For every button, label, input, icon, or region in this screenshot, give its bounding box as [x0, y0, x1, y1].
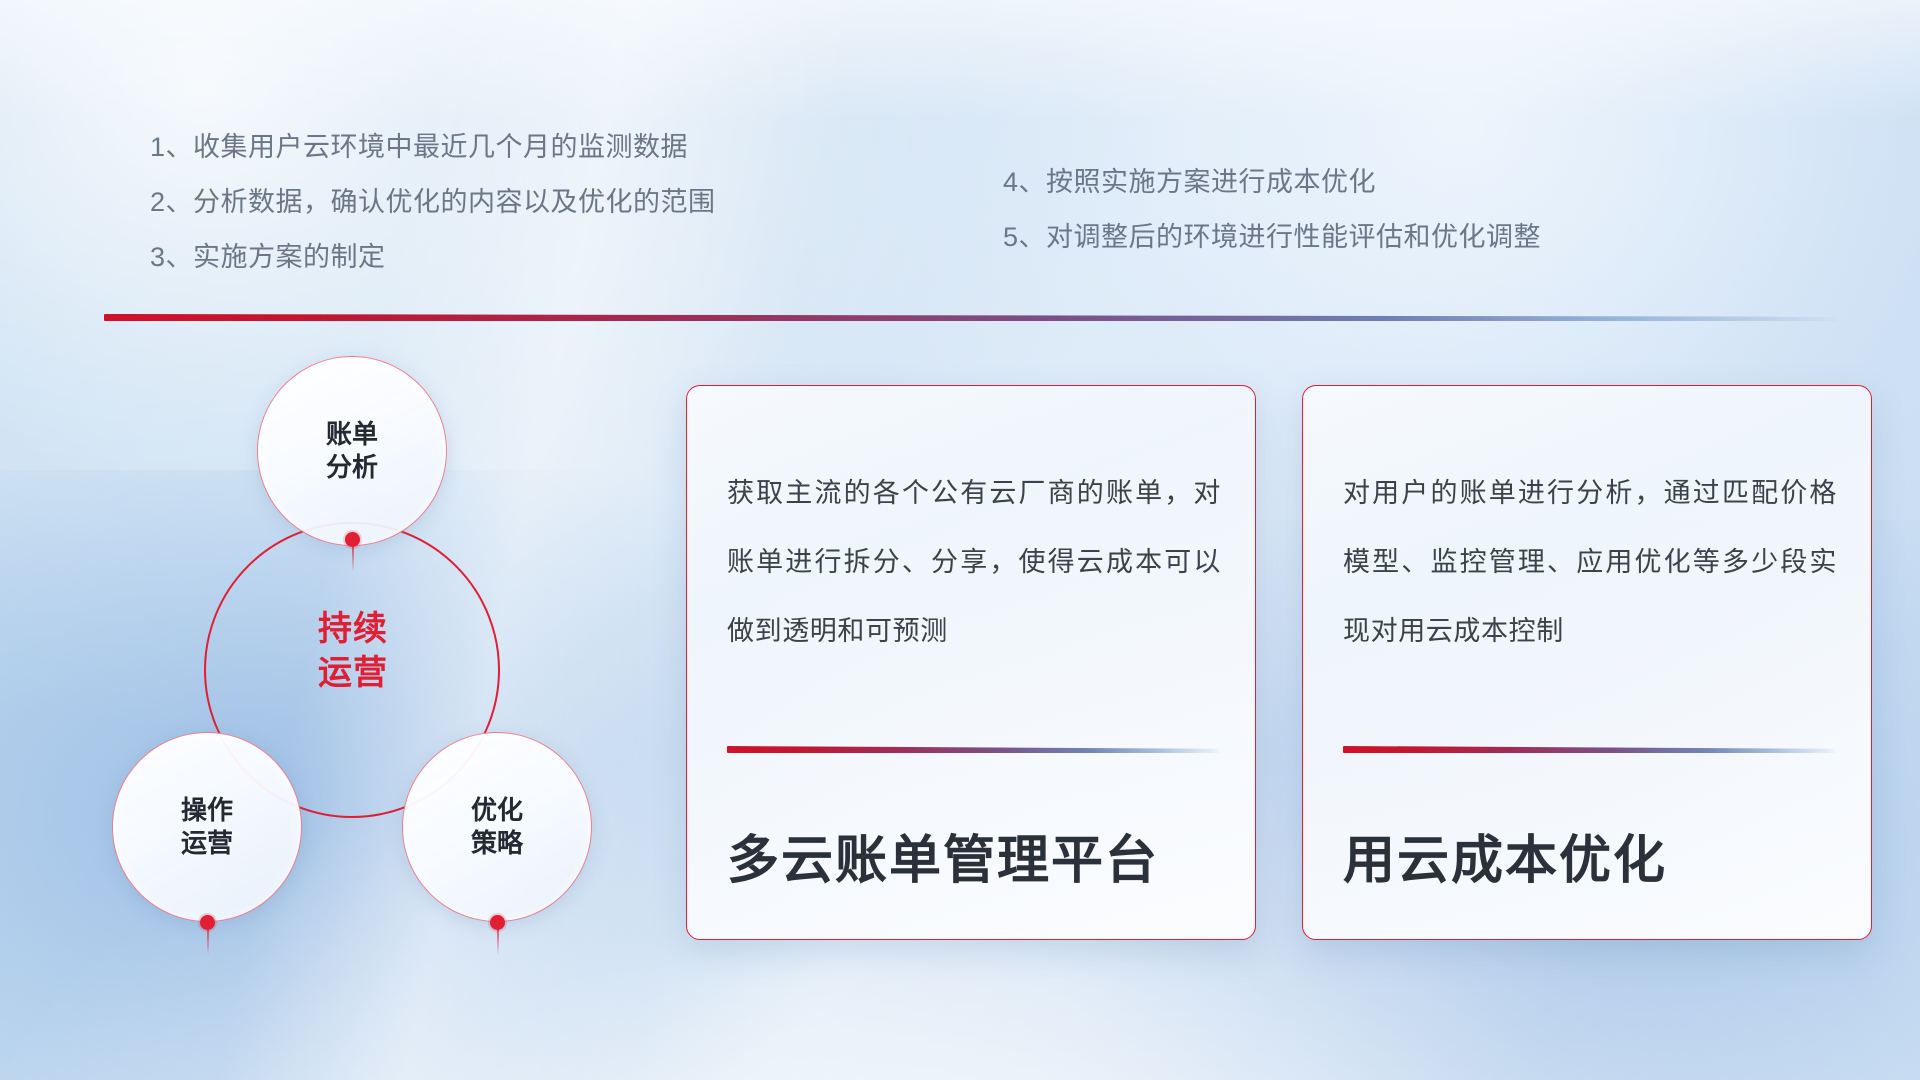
connector-tail-left [207, 929, 209, 955]
diagram-bubble-optimization-strategy[interactable]: 优化 策略 [402, 732, 592, 922]
steps-list-left: 1、收集用户云环境中最近几个月的监测数据 2、分析数据，确认优化的内容以及优化的… [150, 120, 716, 285]
node-dot-top-icon [345, 532, 360, 547]
node-dot-right-icon [490, 915, 505, 930]
card-body-text: 获取主流的各个公有云厂商的账单，对账单进行拆分、分享，使得云成本可以做到透明和可… [727, 459, 1221, 666]
card-divider [727, 746, 1219, 753]
card-title: 用云成本优化 [1343, 818, 1667, 893]
step-item-5: 5、对调整后的环境进行性能评估和优化调整 [1003, 210, 1541, 265]
step-item-2: 2、分析数据，确认优化的内容以及优化的范围 [150, 175, 716, 230]
slide-canvas: 1、收集用户云环境中最近几个月的监测数据 2、分析数据，确认优化的内容以及优化的… [0, 0, 1920, 1080]
card-divider [1343, 746, 1835, 753]
diagram-bubble-operations[interactable]: 操作 运营 [112, 732, 302, 922]
bubble-label-line1: 账单 [326, 418, 378, 451]
connector-tail-right [497, 929, 499, 955]
bubble-label-line1: 优化 [471, 794, 523, 827]
card-multicloud-billing-platform[interactable]: 获取主流的各个公有云厂商的账单，对账单进行拆分、分享，使得云成本可以做到透明和可… [686, 385, 1256, 940]
step-item-3: 3、实施方案的制定 [150, 230, 716, 285]
step-item-4: 4、按照实施方案进行成本优化 [1003, 155, 1541, 210]
step-item-1: 1、收集用户云环境中最近几个月的监测数据 [150, 120, 716, 175]
steps-list-right: 4、按照实施方案进行成本优化 5、对调整后的环境进行性能评估和优化调整 [1003, 155, 1541, 265]
bubble-label-line2: 分析 [326, 451, 378, 484]
card-title: 多云账单管理平台 [727, 818, 1159, 893]
connector-tail-top [352, 546, 354, 572]
background-top-fade [0, 0, 1920, 120]
card-cloud-cost-optimization[interactable]: 对用户的账单进行分析，通过匹配价格模型、监控管理、应用优化等多少段实现对用云成本… [1302, 385, 1872, 940]
diagram-bubble-bill-analysis[interactable]: 账单 分析 [257, 356, 447, 546]
center-label-line2: 运营 [264, 651, 442, 695]
diagram-center-label: 持续 运营 [264, 607, 442, 695]
continuous-operation-diagram: 持续 运营 账单 分析 操作 运营 优化 策略 [96, 352, 636, 952]
center-label-line1: 持续 [264, 607, 442, 651]
bubble-label-line2: 运营 [181, 827, 233, 860]
bubble-label-line2: 策略 [471, 827, 523, 860]
bubble-label-line1: 操作 [181, 794, 233, 827]
card-body-text: 对用户的账单进行分析，通过匹配价格模型、监控管理、应用优化等多少段实现对用云成本… [1343, 459, 1837, 666]
node-dot-left-icon [200, 915, 215, 930]
